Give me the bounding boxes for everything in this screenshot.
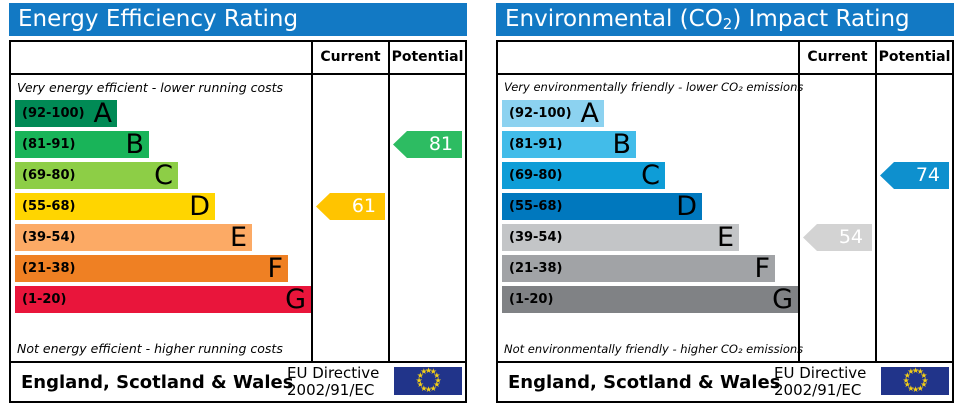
band-letter-label: C [641, 161, 660, 188]
eu-flag-star: ★ [907, 368, 914, 376]
band-range-label: (92-100) [22, 100, 85, 127]
band-range-label: (55-68) [509, 193, 562, 220]
band-letter-label: F [754, 254, 770, 281]
band-range-label: (81-91) [509, 131, 562, 158]
note-bottom-energy: Not energy efficient - higher running co… [17, 341, 283, 356]
band-bars-environmental: (92-100)A(81-91)B(69-80)C(55-68)D(39-54)… [502, 100, 798, 317]
band-letter-label: B [125, 130, 144, 157]
note-top-energy: Very energy efficient - lower running co… [17, 80, 283, 95]
band-range-label: (39-54) [509, 224, 562, 251]
band-letter-label: G [285, 285, 306, 312]
band-range-label: (21-38) [22, 255, 75, 282]
band-row-c: (69-80)C [502, 162, 665, 189]
eu-flag-icon: ★★★★★★★★★★★★ [881, 367, 949, 395]
band-range-label: (69-80) [22, 162, 75, 189]
chart-title-energy: Energy Efficiency Rating [9, 3, 467, 36]
directive-line-2: 2002/91/EC [774, 382, 866, 399]
epc-charts-page: Energy Efficiency Rating Current Potenti… [0, 0, 957, 404]
directive-line-2: 2002/91/EC [287, 382, 379, 399]
band-row-a: (92-100)A [502, 100, 604, 127]
band-letter-label: D [676, 192, 697, 219]
footer-directive-energy: EU Directive 2002/91/EC [287, 363, 379, 401]
band-letter-label: F [267, 254, 283, 281]
band-letter-label: A [94, 99, 112, 126]
eu-flag-star: ★ [420, 368, 427, 376]
bands-area-energy: Very energy efficient - lower running co… [11, 75, 311, 361]
footer-environmental: England, Scotland & Wales EU Directive 2… [496, 363, 954, 403]
table-header-row-energy: Current Potential [11, 42, 465, 75]
environmental-impact-rating-chart: Environmental (CO2) Impact Rating Curren… [487, 0, 956, 404]
column-divider-1-environmental [798, 75, 800, 361]
potential-rating-arrow-energy: 81 [393, 131, 462, 158]
bands-area-environmental: Very environmentally friendly - lower CO… [498, 75, 798, 361]
band-row-b: (81-91)B [502, 131, 636, 158]
band-letter-label: A [581, 99, 599, 126]
rating-table-energy: Current Potential Very energy efficient … [9, 40, 467, 363]
band-range-label: (21-38) [509, 255, 562, 282]
table-header-row-environmental: Current Potential [498, 42, 952, 75]
band-row-d: (55-68)D [502, 193, 702, 220]
directive-line-1: EU Directive [287, 365, 379, 382]
band-row-f: (21-38)F [502, 255, 775, 282]
band-range-label: (81-91) [22, 131, 75, 158]
band-range-label: (39-54) [22, 224, 75, 251]
chart-title-subscript: 2 [723, 15, 733, 33]
chart-title-text: Environmental (CO [505, 6, 723, 32]
band-row-b: (81-91)B [15, 131, 149, 158]
rating-table-environmental: Current Potential Very environmentally f… [496, 40, 954, 363]
footer-region-energy: England, Scotland & Wales [21, 363, 293, 401]
column-header-potential-energy: Potential [388, 42, 465, 73]
chart-title-environmental: Environmental (CO2) Impact Rating [496, 3, 954, 36]
band-range-label: (55-68) [22, 193, 75, 220]
current-rating-arrow-environmental: 54 [803, 224, 872, 251]
note-top-environmental: Very environmentally friendly - lower CO… [504, 80, 803, 94]
band-row-a: (92-100)A [15, 100, 117, 127]
band-row-d: (55-68)D [15, 193, 215, 220]
band-letter-label: C [154, 161, 173, 188]
eu-flag-icon: ★★★★★★★★★★★★ [394, 367, 462, 395]
column-divider-1-energy [311, 75, 313, 361]
column-header-current-environmental: Current [798, 42, 875, 73]
column-header-current-energy: Current [311, 42, 388, 73]
note-bottom-environmental: Not environmentally friendly - higher CO… [504, 342, 803, 356]
band-letter-label: D [189, 192, 210, 219]
band-bars-energy: (92-100)A(81-91)B(69-80)C(55-68)D(39-54)… [15, 100, 311, 317]
band-range-label: (1-20) [22, 286, 66, 313]
band-letter-label: B [612, 130, 631, 157]
band-row-f: (21-38)F [15, 255, 288, 282]
energy-efficiency-rating-chart: Energy Efficiency Rating Current Potenti… [0, 0, 469, 404]
footer-energy: England, Scotland & Wales EU Directive 2… [9, 363, 467, 403]
band-range-label: (92-100) [509, 100, 572, 127]
band-row-g: (1-20)G [502, 286, 798, 313]
band-range-label: (1-20) [509, 286, 553, 313]
column-divider-2-environmental [875, 75, 877, 361]
column-header-potential-environmental: Potential [875, 42, 952, 73]
chart-title-suffix: ) Impact Rating [732, 6, 909, 32]
band-row-e: (39-54)E [15, 224, 252, 251]
directive-line-1: EU Directive [774, 365, 866, 382]
column-divider-2-energy [388, 75, 390, 361]
band-row-g: (1-20)G [15, 286, 311, 313]
band-letter-label: G [772, 285, 793, 312]
band-row-e: (39-54)E [502, 224, 739, 251]
band-range-label: (69-80) [509, 162, 562, 189]
footer-region-environmental: England, Scotland & Wales [508, 363, 780, 401]
potential-rating-arrow-environmental: 74 [880, 162, 949, 189]
band-letter-label: E [230, 223, 247, 250]
current-rating-arrow-energy: 61 [316, 193, 385, 220]
band-row-c: (69-80)C [15, 162, 178, 189]
band-letter-label: E [717, 223, 734, 250]
footer-directive-environmental: EU Directive 2002/91/EC [774, 363, 866, 401]
chart-title-text: Energy Efficiency Rating [18, 6, 298, 32]
